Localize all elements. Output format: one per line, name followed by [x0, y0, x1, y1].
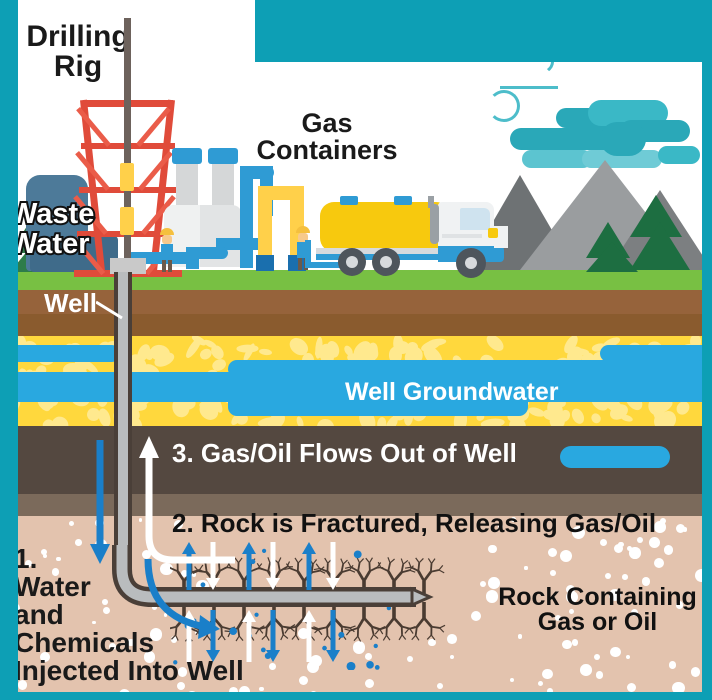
tanker-truck-icon [310, 190, 520, 272]
step-2-label: 2. Rock is Fractured, Releasing Gas/Oil [172, 510, 656, 536]
groundwater-band-left [0, 345, 120, 362]
frame-left [0, 0, 18, 700]
label-well-groundwater-text: Well Groundwater [345, 380, 558, 406]
shale-gas-pocket [560, 446, 670, 468]
frame-right [702, 0, 712, 700]
infographic-canvas: Hydraulic Fracturing Drilling Rig Gas Co… [0, 0, 712, 700]
cloud-icon [470, 60, 710, 170]
label-drilling-rig: Drilling Rig [18, 22, 138, 82]
label-rock-containing: Rock Containing Gas or Oil [495, 585, 700, 635]
label-gas-containers: Gas Containers [252, 110, 402, 164]
label-well: Well [44, 290, 97, 317]
arrow-down-icon [88, 440, 112, 570]
label-waste-water: Waste Water [10, 200, 120, 259]
title-bar [255, 0, 712, 62]
well-leader-line [96, 300, 126, 320]
arrow-up-icon [135, 432, 235, 572]
frame-bottom [0, 692, 712, 700]
